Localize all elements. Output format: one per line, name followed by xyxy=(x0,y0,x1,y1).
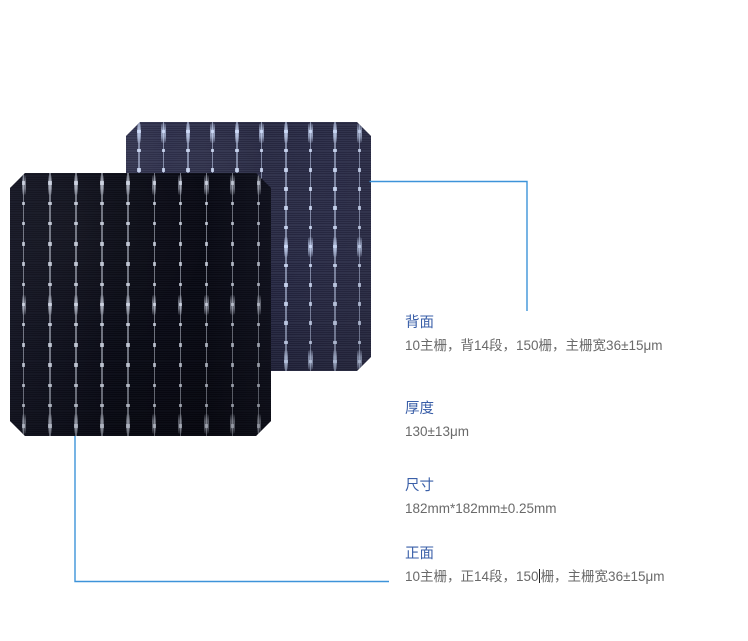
solder-pad xyxy=(153,181,156,184)
solder-pad xyxy=(179,303,182,306)
solder-pad xyxy=(100,242,103,245)
solder-pad xyxy=(22,262,25,265)
segment-mark xyxy=(178,414,182,434)
solder-pad xyxy=(22,343,25,346)
segment-mark xyxy=(74,175,78,195)
solder-pad xyxy=(235,130,238,133)
busbar xyxy=(232,173,233,436)
solder-pad xyxy=(257,404,260,407)
solder-pad xyxy=(162,130,165,133)
solder-pad xyxy=(358,206,361,209)
segment-mark xyxy=(74,295,78,315)
solder-pad xyxy=(231,424,234,427)
solder-pad xyxy=(100,283,103,286)
solder-pad xyxy=(257,424,260,427)
solder-pad xyxy=(358,302,361,305)
solder-pad xyxy=(257,242,260,245)
segment-mark xyxy=(204,175,208,195)
solder-pad xyxy=(309,360,312,363)
segment-mark xyxy=(308,123,312,143)
segment-mark xyxy=(333,123,337,143)
solder-pad xyxy=(333,130,336,133)
busbar xyxy=(75,173,76,436)
solder-pad xyxy=(22,222,25,225)
solder-pad xyxy=(48,384,51,387)
solder-pad xyxy=(309,302,312,305)
solder-pad xyxy=(100,202,103,205)
solder-pad xyxy=(257,343,260,346)
segment-mark xyxy=(230,295,234,315)
solder-pad xyxy=(257,181,260,184)
solder-pad xyxy=(48,343,51,346)
front-cell-busbars xyxy=(10,173,271,436)
solder-pad xyxy=(235,149,238,152)
solder-pad xyxy=(231,363,234,366)
solder-pad xyxy=(205,303,208,306)
solder-pad xyxy=(126,323,129,326)
solder-pad xyxy=(179,323,182,326)
solder-pad xyxy=(284,206,287,209)
solder-pad xyxy=(74,363,77,366)
solder-pad xyxy=(333,283,336,286)
solder-pad xyxy=(22,363,25,366)
solder-pad xyxy=(284,245,287,248)
solder-pad xyxy=(205,242,208,245)
segment-mark xyxy=(257,175,261,195)
segment-mark xyxy=(22,295,26,315)
solder-pad xyxy=(358,245,361,248)
solder-pad xyxy=(358,264,361,267)
solder-pad xyxy=(100,424,103,427)
solder-pad xyxy=(231,262,234,265)
solder-pad xyxy=(48,424,51,427)
segment-mark xyxy=(22,175,26,195)
solder-pad xyxy=(231,283,234,286)
solder-pad xyxy=(333,321,336,324)
solder-pad xyxy=(205,283,208,286)
solder-pad xyxy=(22,323,25,326)
segment-mark xyxy=(308,237,312,257)
solder-pad xyxy=(309,168,312,171)
solder-pad xyxy=(48,283,51,286)
solder-pad xyxy=(153,384,156,387)
spec-front-value-before-caret: 10主栅，正14段，150 xyxy=(405,569,539,584)
solder-pad xyxy=(179,343,182,346)
front-cell-image xyxy=(10,173,271,436)
segment-mark xyxy=(137,123,141,143)
solder-pad xyxy=(126,404,129,407)
solder-pad xyxy=(100,222,103,225)
solder-pad xyxy=(231,202,234,205)
front-cell-leader-line xyxy=(75,436,389,582)
solder-pad xyxy=(22,181,25,184)
solder-pad xyxy=(126,343,129,346)
solder-pad xyxy=(205,363,208,366)
busbar xyxy=(359,122,360,371)
solder-pad xyxy=(358,341,361,344)
solder-pad xyxy=(179,202,182,205)
solder-pad xyxy=(333,206,336,209)
solder-pad xyxy=(22,384,25,387)
solder-pad xyxy=(126,283,129,286)
solder-pad xyxy=(100,262,103,265)
solder-pad xyxy=(284,302,287,305)
solder-pad xyxy=(205,323,208,326)
solder-pad xyxy=(153,424,156,427)
solder-pad xyxy=(22,303,25,306)
spec-size-title: 尺寸 xyxy=(405,476,556,496)
solder-pad xyxy=(100,323,103,326)
solder-pad xyxy=(257,303,260,306)
solder-pad xyxy=(153,222,156,225)
solder-pad xyxy=(48,303,51,306)
spec-back-value: 10主栅，背14段，150栅，主栅宽36±15μm xyxy=(405,335,663,356)
solder-pad xyxy=(126,424,129,427)
solder-pad xyxy=(205,222,208,225)
solder-pad xyxy=(205,404,208,407)
solder-pad xyxy=(358,149,361,152)
solder-pad xyxy=(179,222,182,225)
solder-pad xyxy=(309,321,312,324)
spec-size: 尺寸 182mm*182mm±0.25mm xyxy=(405,476,556,519)
segment-mark xyxy=(204,295,208,315)
solder-pad xyxy=(100,384,103,387)
solder-pad xyxy=(74,262,77,265)
segment-mark xyxy=(204,414,208,434)
solder-pad xyxy=(126,202,129,205)
segment-mark xyxy=(284,350,288,370)
solder-pad xyxy=(137,130,140,133)
solder-pad xyxy=(153,343,156,346)
segment-mark xyxy=(357,123,361,143)
segment-mark xyxy=(210,123,214,143)
solder-pad xyxy=(358,226,361,229)
segment-mark xyxy=(48,414,52,434)
solder-pad xyxy=(179,404,182,407)
segment-mark xyxy=(126,414,130,434)
solder-pad xyxy=(22,202,25,205)
solder-pad xyxy=(211,168,214,171)
solder-pad xyxy=(257,283,260,286)
solder-pad xyxy=(284,283,287,286)
solder-pad xyxy=(100,181,103,184)
solder-pad xyxy=(231,222,234,225)
solder-pad xyxy=(284,226,287,229)
solder-pad xyxy=(231,343,234,346)
solder-pad xyxy=(74,404,77,407)
solder-pad xyxy=(162,149,165,152)
solder-pad xyxy=(333,245,336,248)
solder-pad xyxy=(358,130,361,133)
solder-pad xyxy=(179,424,182,427)
solder-pad xyxy=(186,130,189,133)
solder-pad xyxy=(153,242,156,245)
solder-pad xyxy=(205,343,208,346)
solder-pad xyxy=(284,341,287,344)
solder-pad xyxy=(358,187,361,190)
solder-pad xyxy=(153,404,156,407)
solder-pad xyxy=(257,262,260,265)
segment-mark xyxy=(178,175,182,195)
solder-pad xyxy=(257,363,260,366)
busbar xyxy=(310,122,311,371)
solder-pad xyxy=(22,242,25,245)
segment-mark xyxy=(308,350,312,370)
solder-pad xyxy=(205,181,208,184)
solder-pad xyxy=(48,323,51,326)
solder-pad xyxy=(74,384,77,387)
front-cell-finger-grid xyxy=(10,173,271,436)
solder-pad xyxy=(74,343,77,346)
segment-mark xyxy=(230,175,234,195)
segment-mark xyxy=(333,237,337,257)
segment-mark xyxy=(48,295,52,315)
solder-pad xyxy=(309,187,312,190)
solder-pad xyxy=(126,262,129,265)
segment-mark xyxy=(357,350,361,370)
solder-pad xyxy=(257,202,260,205)
solder-pad xyxy=(48,404,51,407)
solder-pad xyxy=(48,202,51,205)
segment-mark xyxy=(100,295,104,315)
solder-pad xyxy=(284,321,287,324)
solder-pad xyxy=(231,181,234,184)
solder-pad xyxy=(309,149,312,152)
solder-pad xyxy=(205,424,208,427)
solder-pad xyxy=(309,226,312,229)
segment-mark xyxy=(100,414,104,434)
solder-pad xyxy=(74,323,77,326)
solder-pad xyxy=(48,262,51,265)
segment-mark xyxy=(284,237,288,257)
solder-pad xyxy=(358,283,361,286)
solder-pad xyxy=(211,130,214,133)
solder-pad xyxy=(231,404,234,407)
solder-pad xyxy=(333,341,336,344)
solder-pad xyxy=(231,384,234,387)
segment-mark xyxy=(22,414,26,434)
solder-pad xyxy=(205,262,208,265)
solder-pad xyxy=(205,202,208,205)
solder-pad xyxy=(153,303,156,306)
segment-mark xyxy=(333,350,337,370)
solder-pad xyxy=(284,149,287,152)
spec-front: 正面 10主栅，正14段，150栅，主栅宽36±15μm xyxy=(405,544,665,587)
solder-pad xyxy=(257,384,260,387)
solder-pad xyxy=(231,242,234,245)
solder-pad xyxy=(186,168,189,171)
solder-pad xyxy=(333,187,336,190)
solder-pad xyxy=(358,321,361,324)
spec-front-value-after-caret: 栅，主栅宽36±15μm xyxy=(541,569,665,584)
spec-front-value[interactable]: 10主栅，正14段，150栅，主栅宽36±15μm xyxy=(405,566,665,587)
solder-pad xyxy=(333,264,336,267)
solder-pad xyxy=(358,360,361,363)
solder-pad xyxy=(284,360,287,363)
solder-pad xyxy=(74,222,77,225)
solder-pad xyxy=(186,149,189,152)
segment-mark xyxy=(178,295,182,315)
busbar xyxy=(180,173,181,436)
solder-pad xyxy=(179,242,182,245)
solder-pad xyxy=(137,168,140,171)
solder-pad xyxy=(126,363,129,366)
segment-mark xyxy=(284,123,288,143)
solder-pad xyxy=(126,303,129,306)
segment-mark xyxy=(257,295,261,315)
solder-pad xyxy=(309,341,312,344)
solder-pad xyxy=(74,181,77,184)
solder-pad xyxy=(309,206,312,209)
solder-pad xyxy=(309,264,312,267)
solder-pad xyxy=(211,149,214,152)
solder-pad xyxy=(260,168,263,171)
solder-pad xyxy=(74,303,77,306)
solder-pad xyxy=(22,283,25,286)
solder-pad xyxy=(153,363,156,366)
solder-pad xyxy=(333,168,336,171)
spec-back-title: 背面 xyxy=(405,313,663,333)
solder-pad xyxy=(179,384,182,387)
solder-pad xyxy=(48,222,51,225)
solder-pad xyxy=(260,130,263,133)
solder-pad xyxy=(74,242,77,245)
solder-pad xyxy=(284,264,287,267)
segment-mark xyxy=(100,175,104,195)
solder-pad xyxy=(100,363,103,366)
front-cell-shading xyxy=(10,173,271,436)
spec-front-title: 正面 xyxy=(405,544,665,564)
solder-pad xyxy=(153,283,156,286)
solder-pad xyxy=(205,384,208,387)
solder-pad xyxy=(48,363,51,366)
solder-pad xyxy=(284,130,287,133)
busbar xyxy=(23,173,24,436)
segment-mark xyxy=(126,295,130,315)
segment-mark xyxy=(257,414,261,434)
segment-mark xyxy=(161,123,165,143)
solder-pad xyxy=(358,168,361,171)
solder-pad xyxy=(74,424,77,427)
solder-pad xyxy=(309,245,312,248)
solder-pad xyxy=(333,149,336,152)
solder-pad xyxy=(260,149,263,152)
spec-thickness-value: 130±13μm xyxy=(405,421,469,442)
segment-mark xyxy=(235,123,239,143)
busbar xyxy=(285,122,286,371)
solder-pad xyxy=(22,404,25,407)
solder-pad xyxy=(126,181,129,184)
diagram-stage: 背面 10主栅，背14段，150栅，主栅宽36±15μm 厚度 130±13μm… xyxy=(0,0,748,641)
segment-mark xyxy=(230,414,234,434)
solder-pad xyxy=(48,242,51,245)
solder-pad xyxy=(153,202,156,205)
solder-pad xyxy=(153,323,156,326)
solder-pad xyxy=(162,168,165,171)
segment-mark xyxy=(152,175,156,195)
solder-pad xyxy=(231,323,234,326)
solder-pad xyxy=(153,262,156,265)
solder-pad xyxy=(333,226,336,229)
solder-pad xyxy=(309,283,312,286)
solder-pad xyxy=(126,242,129,245)
solder-pad xyxy=(235,168,238,171)
solder-pad xyxy=(284,168,287,171)
solder-pad xyxy=(257,323,260,326)
busbar xyxy=(258,173,259,436)
segment-mark xyxy=(48,175,52,195)
solder-pad xyxy=(48,181,51,184)
segment-mark xyxy=(186,123,190,143)
solder-pad xyxy=(126,222,129,225)
solder-pad xyxy=(333,302,336,305)
back-cell-leader-line xyxy=(370,182,528,312)
solder-pad xyxy=(100,404,103,407)
solder-pad xyxy=(74,202,77,205)
solder-pad xyxy=(179,283,182,286)
busbar xyxy=(127,173,128,436)
solder-pad xyxy=(231,303,234,306)
solder-pad xyxy=(137,149,140,152)
solder-pad xyxy=(100,303,103,306)
solder-pad xyxy=(179,363,182,366)
solder-pad xyxy=(22,424,25,427)
busbar xyxy=(49,173,50,436)
segment-mark xyxy=(74,414,78,434)
busbar xyxy=(101,173,102,436)
solder-pad xyxy=(257,222,260,225)
spec-back: 背面 10主栅，背14段，150栅，主栅宽36±15μm xyxy=(405,313,663,356)
solder-pad xyxy=(333,360,336,363)
spec-thickness: 厚度 130±13μm xyxy=(405,399,469,442)
segment-mark xyxy=(259,123,263,143)
solder-pad xyxy=(74,283,77,286)
segment-mark xyxy=(126,175,130,195)
spec-thickness-title: 厚度 xyxy=(405,399,469,419)
segment-mark xyxy=(152,295,156,315)
segment-mark xyxy=(357,237,361,257)
busbar xyxy=(206,173,207,436)
solder-pad xyxy=(179,181,182,184)
solder-pad xyxy=(309,130,312,133)
busbar xyxy=(154,173,155,436)
solder-pad xyxy=(179,262,182,265)
spec-size-value: 182mm*182mm±0.25mm xyxy=(405,498,556,519)
solder-pad xyxy=(126,384,129,387)
busbar xyxy=(334,122,335,371)
segment-mark xyxy=(152,414,156,434)
solder-pad xyxy=(100,343,103,346)
solder-pad xyxy=(284,187,287,190)
